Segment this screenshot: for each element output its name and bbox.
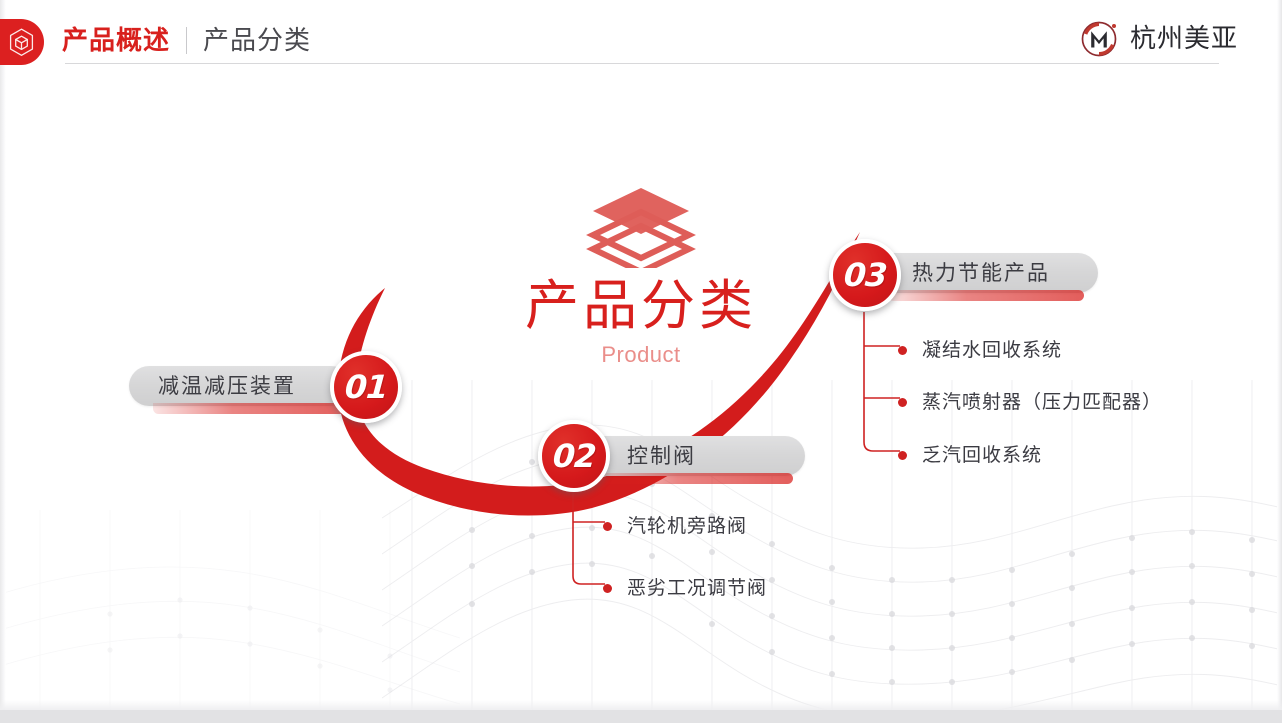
list-item[interactable]: 汽轮机旁路阀 bbox=[603, 517, 747, 536]
list-item[interactable]: 乏汽回收系统 bbox=[898, 446, 1042, 465]
bullet-dot-icon bbox=[603, 584, 612, 593]
circled-m-logo-icon bbox=[1078, 16, 1122, 60]
slide-edge-right bbox=[1277, 0, 1282, 723]
bullet-dot-icon bbox=[898, 451, 907, 460]
list-item[interactable]: 蒸汽喷射器（压力匹配器） bbox=[898, 393, 1162, 412]
pill-01[interactable]: 减温减压装置 bbox=[129, 366, 351, 406]
brand-logo: 杭州美亚 bbox=[1078, 16, 1238, 60]
list-item-label: 乏汽回收系统 bbox=[922, 446, 1042, 465]
flow-node-02-number: 02 bbox=[551, 437, 596, 475]
bullet-dot-icon bbox=[603, 522, 612, 531]
flow-node-02[interactable]: 02 bbox=[538, 420, 610, 492]
pill-02-underline bbox=[601, 473, 793, 484]
list-item-label: 凝结水回收系统 bbox=[922, 341, 1062, 360]
list-item[interactable]: 恶劣工况调节阀 bbox=[603, 579, 767, 598]
flow-node-01[interactable]: 01 bbox=[330, 351, 402, 423]
list-item-label: 汽轮机旁路阀 bbox=[627, 517, 747, 536]
slide-canvas: 产品概述 产品分类 杭州美亚 产品分类 Prod bbox=[0, 0, 1282, 723]
bullet-dot-icon bbox=[898, 346, 907, 355]
header-underline-rule bbox=[65, 63, 1219, 64]
flow-label-01[interactable]: 减温减压装置 bbox=[129, 366, 351, 406]
pill-01-underline bbox=[153, 403, 351, 414]
pill-03-label: 热力节能产品 bbox=[912, 263, 1050, 284]
page-title-main[interactable]: 产品概述 bbox=[62, 27, 170, 53]
flow-node-03[interactable]: 03 bbox=[829, 239, 901, 311]
brand-name: 杭州美亚 bbox=[1130, 25, 1238, 51]
slide-edge-left bbox=[0, 0, 6, 723]
flow-node-03-number: 03 bbox=[842, 256, 887, 294]
header-badge bbox=[0, 19, 44, 65]
list-item-label: 恶劣工况调节阀 bbox=[627, 579, 767, 598]
breadcrumb-divider bbox=[186, 27, 187, 54]
pill-02-label: 控制阀 bbox=[627, 446, 696, 467]
bullet-dot-icon bbox=[898, 398, 907, 407]
stacked-layers-icon bbox=[585, 186, 697, 268]
header-breadcrumb: 产品概述 产品分类 bbox=[62, 17, 311, 63]
list-item-label: 蒸汽喷射器（压力匹配器） bbox=[922, 393, 1162, 412]
flow-node-02-children: 汽轮机旁路阀 恶劣工况调节阀 bbox=[565, 490, 895, 600]
list-item[interactable]: 凝结水回收系统 bbox=[898, 341, 1062, 360]
slide-bottom-gradient bbox=[0, 700, 1282, 710]
flow-node-03-children: 凝结水回收系统 蒸汽喷射器（压力匹配器） 乏汽回收系统 bbox=[856, 312, 1206, 472]
page-title-sub[interactable]: 产品分类 bbox=[203, 27, 311, 53]
background-mesh-decoration-left bbox=[0, 510, 460, 710]
slide-bottom-bar bbox=[0, 710, 1282, 723]
pill-01-label: 减温减压装置 bbox=[158, 376, 296, 397]
flow-node-01-number: 01 bbox=[343, 368, 388, 406]
hexagon-cube-icon bbox=[8, 28, 35, 57]
pill-03-underline bbox=[888, 290, 1084, 301]
